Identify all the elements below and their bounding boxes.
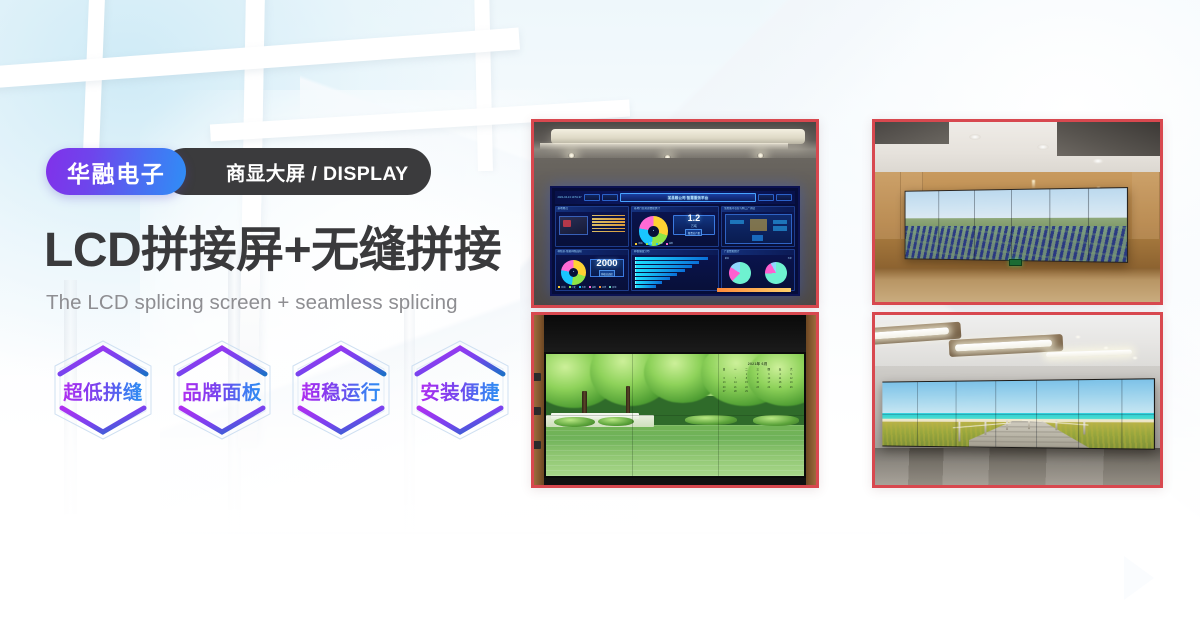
photo-park-scene-video-wall: 2021年 6月 日 一 二 三 四 五 六 1 2 3 4 — [531, 312, 819, 488]
photo3-calendar-day: 20 — [719, 386, 729, 390]
photo4-screen — [882, 378, 1154, 450]
photo3-calendar-day: 26 — [786, 386, 796, 390]
photo3-calendar-day: 17 — [764, 381, 774, 385]
photo1-card-2-metric-unit: 万吨 — [691, 224, 697, 228]
photo3-calendar-day: 16 — [752, 381, 762, 385]
photo3-calendar-day: 12 — [786, 377, 796, 381]
category-badge: 商显大屏 / DISPLAY — [162, 148, 431, 195]
photo1-card-6-legend: 稻谷 玉米 — [725, 257, 792, 260]
feature-list: 超低拼缝 品牌面板 超稳运行 — [48, 336, 515, 444]
photo3-bush-2 — [598, 417, 634, 427]
photo3-right-frame — [806, 315, 816, 485]
photo3-calendar-day: 5 — [786, 373, 796, 377]
photo3-top-bezel — [534, 315, 816, 352]
photo1-dashboard-card-1: 基地概况 — [555, 206, 630, 247]
photo1-legend-item: 玉米 — [579, 286, 586, 289]
photo3-bezel-tab-2 — [534, 407, 541, 416]
photo1-legend-item: 油料 — [666, 242, 673, 245]
photo1-dashboard-grid: 基地概况 基地行业资源数据统计 ● 1.2 万吨 粮食总产量 — [555, 204, 796, 291]
photo3-calendar-day: 19 — [786, 381, 796, 385]
photo2-ceiling-dark-left — [875, 122, 949, 144]
photo1-dashboard-nav-2 — [602, 194, 618, 202]
photo1-card-2-metric-value: 1.2 — [688, 214, 701, 223]
photo3-left-frame — [534, 315, 544, 485]
photo1-dashboard-topbar: 2021-04-13 10:51:27 某县粮公司 智慧服务平台 — [555, 191, 796, 204]
photo1-card-6-header: 产量数据统计 — [722, 250, 795, 255]
photo1-dashboard-ticker — [717, 288, 791, 293]
photo1-dashboard-nav-4 — [776, 194, 792, 202]
photo3-calendar-day — [730, 373, 740, 377]
photo3-calendar-day: 21 — [730, 386, 740, 390]
photo3-calendar-weekday: 一 — [730, 368, 740, 372]
photo3-calendar-day: 8 — [741, 377, 751, 381]
photo1-legend-item: 稻谷 — [558, 286, 565, 289]
feature-item-1-label: 超低拼缝 — [63, 376, 143, 405]
photo1-card-1-header: 基地概况 — [556, 207, 629, 212]
photo2-wall-lamp-1 — [1032, 180, 1035, 189]
feature-item-1: 超低拼缝 — [48, 336, 158, 444]
photo1-card-3-header: 生态循环农业与精工产销链 — [722, 207, 795, 212]
feature-item-2: 品牌面板 — [167, 336, 277, 444]
photo2-panel-seam — [973, 190, 974, 259]
photo2-ceiling-light-3 — [1092, 158, 1104, 164]
photo3-calendar-title: 2021年 6月 — [719, 362, 796, 367]
photo1-card-2-metric: 1.2 万吨 粮食总产量 — [673, 215, 714, 235]
feature-item-2-label: 品牌面板 — [182, 376, 262, 405]
photo-solar-farm-video-wall — [872, 119, 1163, 305]
photo1-card-4-legend: 稻谷 小麦 玉米 油料 豆类 其他 — [558, 286, 625, 289]
page-title: LCD拼接屏+无缝拼接 — [44, 225, 514, 277]
photo3-calendar-day: 24 — [764, 386, 774, 390]
promo-banner: 商显大屏 / DISPLAY 华融电子 LCD拼接屏+无缝拼接 The LCD … — [0, 0, 1200, 640]
photo2-screen — [904, 187, 1128, 263]
photo3-calendar-weekday: 日 — [719, 368, 729, 372]
photo3-calendar-weekday: 二 — [741, 368, 751, 372]
photo3-calendar-day: 4 — [775, 373, 785, 377]
photo2-ceiling-light-1 — [969, 134, 981, 140]
photo3-calendar-day: 25 — [775, 386, 785, 390]
photo1-dashboard-nav-3 — [758, 194, 774, 202]
photo3-calendar-day: 29 — [741, 390, 751, 394]
photo4-panel-seam-h — [882, 414, 1153, 415]
background-triangle-right-2 — [1124, 556, 1154, 600]
photo1-dashboard-nav-1 — [584, 194, 600, 202]
photo4-post-5 — [1055, 420, 1057, 430]
photo3-bezel-tab-1 — [534, 373, 541, 382]
photo1-legend-item: 小麦 — [569, 286, 576, 289]
photo2-floor — [875, 268, 1160, 302]
photo3-screen: 2021年 6月 日 一 二 三 四 五 六 1 2 3 4 — [544, 352, 806, 478]
photo1-dashboard-card-6: 产量数据统计 稻谷 玉米 — [721, 249, 796, 290]
photo1-card-2-legend: 稻谷 小麦 玉米 油料 — [635, 242, 714, 245]
photo1-card-4-header: 种植区-规模种植面积 — [556, 250, 629, 255]
category-badge-label: 商显大屏 / DISPLAY — [226, 157, 409, 186]
photo4-post-6 — [1083, 420, 1085, 434]
photo1-pie-chart-2 — [765, 262, 787, 284]
photo2-exit-sign — [1009, 259, 1022, 266]
photo3-calendar-day: 6 — [719, 377, 729, 381]
photo1-card-4-metric-value: 2000 — [596, 259, 617, 269]
brand-pill: 华融电子 — [46, 148, 186, 195]
photo3-panel-seam-h — [546, 415, 804, 416]
photo1-dashboard-card-3: 生态循环农业与精工产销链 — [721, 206, 796, 247]
photo4-downlight-2 — [1103, 346, 1109, 350]
photo2-panel-seam — [1010, 190, 1011, 260]
photo3-calendar-day: 3 — [764, 373, 774, 377]
photo1-card-2-header: 基地行业资源数据统计 — [632, 207, 718, 212]
photo1-dashboard-card-2: 基地行业资源数据统计 ● 1.2 万吨 粮食总产量 稻谷 小麦 玉米 油料 — [631, 206, 719, 247]
photo1-card-4-metric: 2000 种植总面积 — [590, 259, 625, 277]
photo1-legend-item: 玉米 — [656, 242, 663, 245]
photo1-card-1-textlines — [592, 215, 625, 234]
photo4-downlight-3 — [1132, 356, 1138, 360]
photo3-calendar-weekday: 五 — [775, 368, 785, 372]
feature-item-3: 超稳运行 — [286, 336, 396, 444]
photo1-card-5-bar-chart — [635, 257, 714, 288]
photo4-post-3 — [1006, 420, 1008, 431]
photo1-legend-item: 稻谷 — [635, 242, 642, 245]
photo2-panel-seam — [1088, 188, 1089, 261]
photo1-card-4-metric-note: 种植总面积 — [599, 270, 615, 277]
photo4-sky — [882, 379, 1153, 415]
photo3-water — [546, 425, 804, 476]
feature-item-3-label: 超稳运行 — [301, 376, 381, 405]
photo1-cove-light-2 — [540, 143, 788, 150]
photo3-calendar-day: 28 — [730, 390, 740, 394]
photo2-ceiling-dark-right — [1057, 122, 1160, 156]
photo3-calendar-day — [719, 373, 729, 377]
photo1-card-3-flow-diagram — [725, 214, 792, 244]
photo3-calendar-grid: 日 一 二 三 四 五 六 1 2 3 4 5 6 — [719, 368, 796, 394]
feature-item-4: 安装便捷 — [405, 336, 515, 444]
photo4-floor — [875, 448, 1160, 485]
photo3-calendar-weekday: 四 — [764, 368, 774, 372]
photo3-calendar-weekday: 六 — [786, 368, 796, 372]
photo3-calendar-day: 9 — [752, 377, 762, 381]
brand-badge: 商显大屏 / DISPLAY 华融电子 — [46, 148, 186, 195]
photo3-calendar-day: 13 — [719, 381, 729, 385]
photo3-bezel-tab-3 — [534, 441, 541, 450]
photo2-panel-seam — [1049, 189, 1050, 260]
page-subtitle: The LCD splicing screen + seamless splic… — [46, 291, 458, 315]
photo3-calendar-day: 27 — [719, 390, 729, 394]
photo3-calendar-day: 2 — [752, 373, 762, 377]
photo1-dashboard-card-4: 种植区-规模种植面积 ● 2000 种植总面积 稻谷 小麦 玉米 油料 豆类 — [555, 249, 630, 290]
photo1-card-2-metric-note: 粮食总产量 — [685, 229, 702, 236]
photo3-calendar-day: 18 — [775, 381, 785, 385]
photo3-calendar-day: 11 — [775, 377, 785, 381]
photo4-post-2 — [985, 420, 987, 434]
photo1-dashboard-title: 某县粮公司 智慧服务平台 — [620, 193, 757, 201]
photo1-card-4-donut-chart: ● — [561, 260, 586, 285]
photo3-calendar-day: 7 — [730, 377, 740, 381]
photo1-legend-item: 油料 — [589, 286, 596, 289]
photo3-calendar-day: 10 — [764, 377, 774, 381]
photo4-post-1 — [958, 421, 960, 440]
photo1-dashboard-timestamp: 2021-04-13 10:51:27 — [558, 196, 582, 199]
photo3-calendar-day: 23 — [752, 386, 762, 390]
photo1-card-6-pie-charts — [722, 262, 795, 284]
photo1-card-5-header: 种植播量分布 — [632, 250, 718, 255]
photo-dashboard-video-wall: 2021-04-13 10:51:27 某县粮公司 智慧服务平台 基地概况 — [531, 119, 819, 308]
photo1-legend-item: 其他 — [609, 286, 616, 289]
photo3-calendar-day: 22 — [741, 386, 751, 390]
photo1-legend-item: 小麦 — [646, 242, 653, 245]
photo2-panel-seam — [938, 191, 939, 259]
feature-item-4-label: 安装便捷 — [420, 376, 500, 405]
photo1-screen: 2021-04-13 10:51:27 某县粮公司 智慧服务平台 基地概况 — [550, 186, 801, 296]
photo3-calendar-day: 14 — [730, 381, 740, 385]
brand-pill-label: 华融电子 — [67, 155, 165, 189]
text-column: 商显大屏 / DISPLAY 华融电子 LCD拼接屏+无缝拼接 The LCD … — [0, 0, 520, 640]
photo1-pie-chart-1 — [729, 262, 751, 284]
photo1-dashboard-card-5: 种植播量分布 — [631, 249, 719, 290]
photo3-calendar-weekday: 三 — [752, 368, 762, 372]
photo3-calendar-day: 15 — [741, 381, 751, 385]
photo1-legend-item: 豆类 — [599, 286, 606, 289]
photo1-cove-light — [551, 129, 805, 144]
photo3-calendar-day: 1 — [741, 373, 751, 377]
background-triangle-right-1 — [1166, 552, 1200, 604]
photo1-card-1-thumbnail — [559, 216, 588, 235]
photo-beach-boardwalk-video-wall — [872, 312, 1163, 488]
